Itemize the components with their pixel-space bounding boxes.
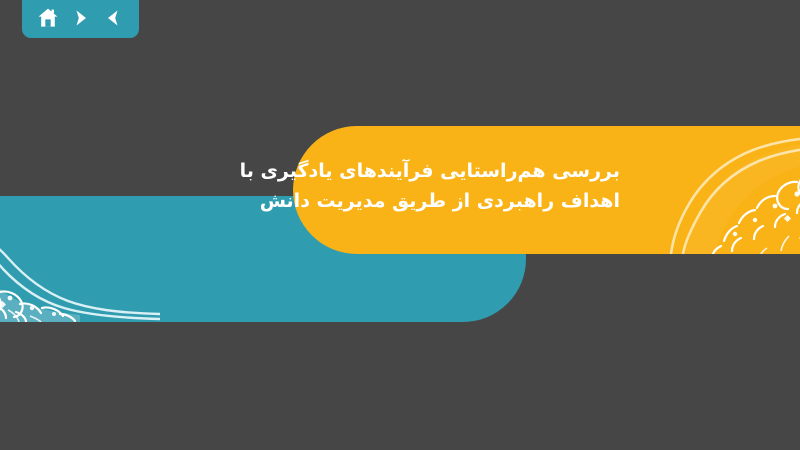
forward-button[interactable] (68, 5, 94, 31)
back-button[interactable] (100, 5, 126, 31)
presentation-slide: بررسی هم‌راستایی فرآیندهای یادگیری با اه… (0, 0, 800, 450)
navigation-bar (22, 0, 139, 38)
arabesque-corner-ornament-teal (0, 196, 160, 322)
triangle-left-icon (103, 8, 123, 28)
orange-banner (293, 126, 800, 254)
home-button[interactable] (35, 5, 61, 31)
triangle-right-icon (71, 8, 91, 28)
home-icon (37, 7, 59, 29)
arabesque-corner-ornament-orange (663, 126, 800, 254)
